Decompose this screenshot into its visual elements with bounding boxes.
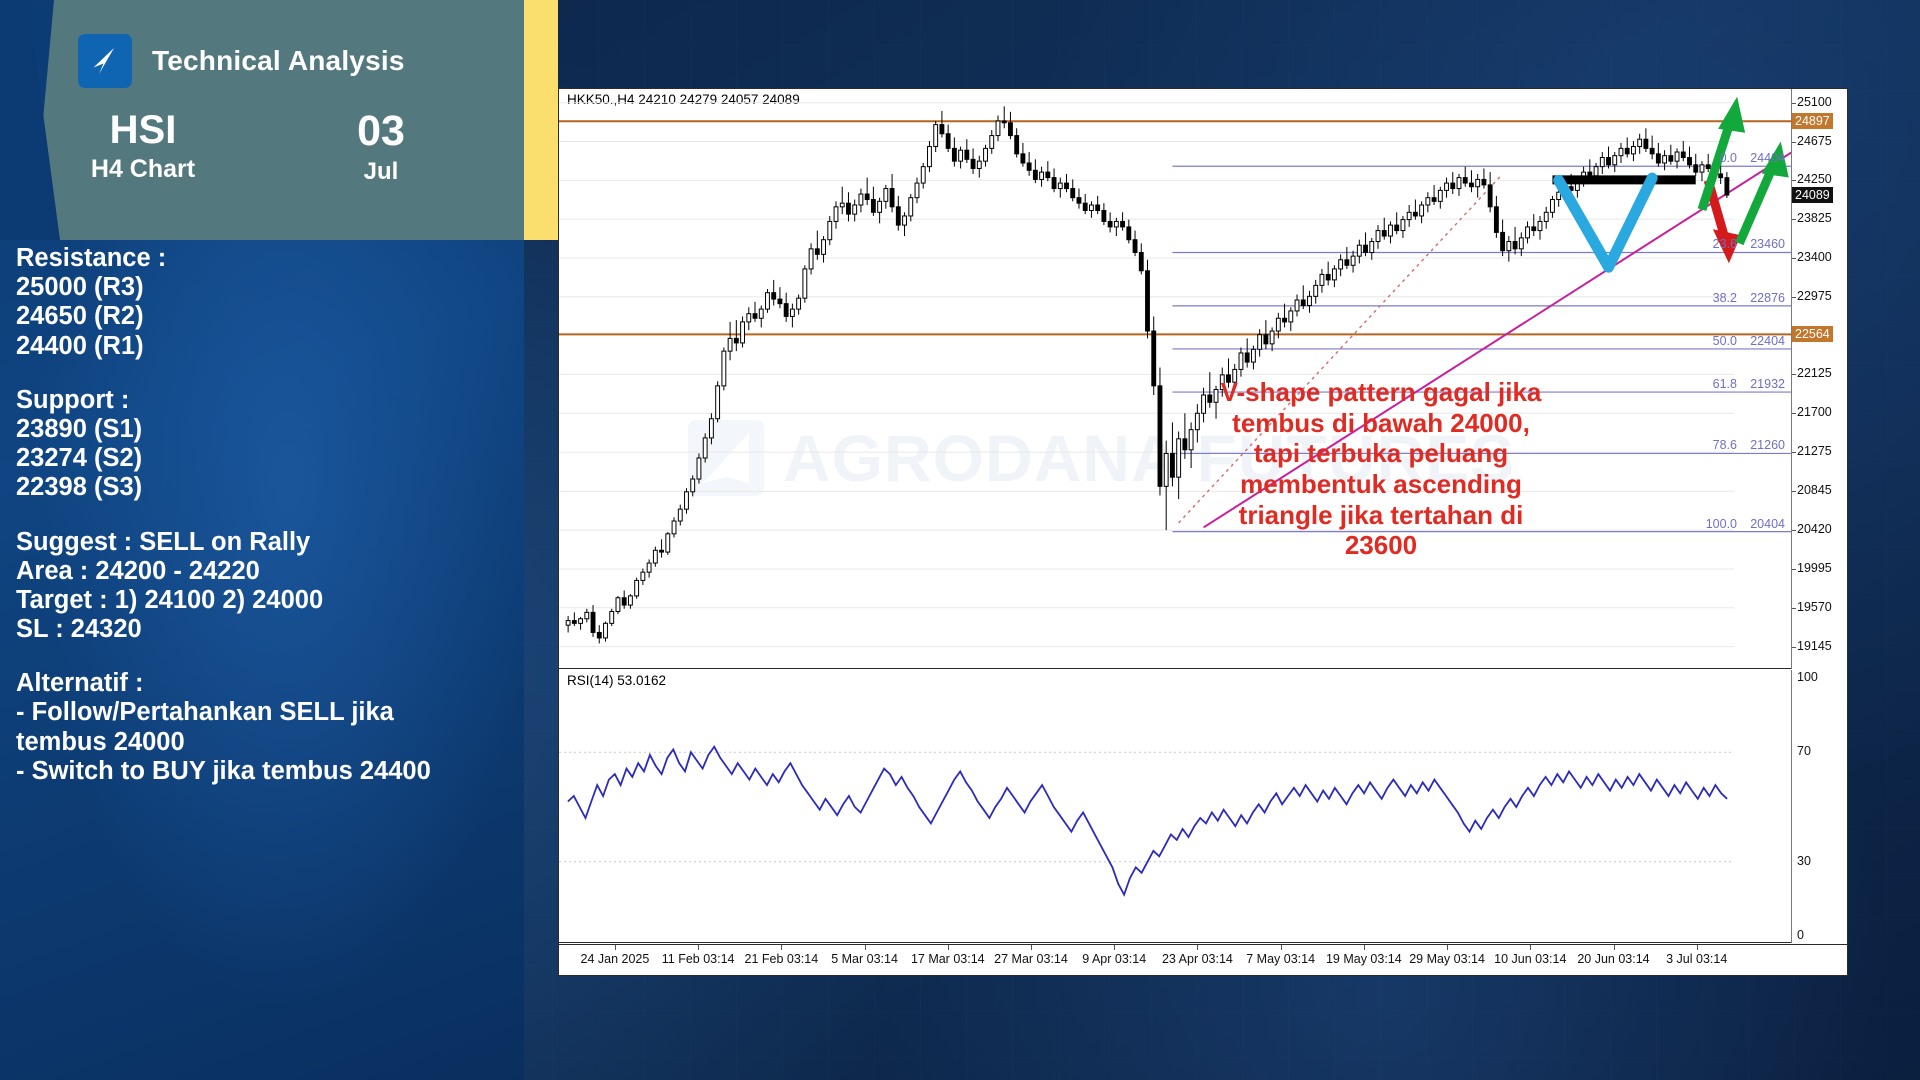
candle-body (591, 612, 595, 632)
candle-body (1027, 163, 1031, 170)
candle-body (1588, 172, 1592, 176)
candle-body (1438, 190, 1442, 201)
candle-body (1501, 232, 1505, 250)
annotation-line: V-shape pattern gagal jika (1171, 377, 1591, 408)
price-axis-tick (1792, 452, 1796, 453)
resistance-heading: Resistance : (16, 244, 486, 273)
sl-line: SL : 24320 (16, 615, 486, 644)
candle-body (728, 338, 732, 351)
candle-body (1077, 198, 1081, 203)
candle-body (703, 438, 707, 458)
candle-body (1656, 154, 1660, 163)
candle-body (1420, 205, 1424, 216)
candle-body (1357, 245, 1361, 256)
candle-body (597, 632, 601, 637)
alternative-item-2: - Switch to BUY jika tembus 24400 (16, 757, 486, 786)
candle-body (1663, 156, 1667, 163)
time-axis-tick (1031, 945, 1032, 950)
candle-body (940, 125, 944, 134)
price-axis-tick (1792, 142, 1796, 143)
price-axis-tick (1792, 258, 1796, 259)
rsi-pane: RSI(14) 53.0162 (559, 670, 1791, 943)
alternative-item-1: - Follow/Pertahankan SELL jika tembus 24… (16, 698, 486, 756)
candle-body (834, 207, 838, 222)
candle-body (622, 598, 626, 605)
candle-body (1270, 331, 1274, 344)
candle-body (946, 134, 950, 149)
candle-body (1239, 353, 1243, 369)
candle-body (990, 136, 994, 149)
time-axis-tick (1697, 945, 1698, 950)
candle-body (952, 148, 956, 161)
candle-body (1033, 170, 1037, 179)
candle-body (604, 623, 608, 638)
candle-body (660, 550, 664, 552)
candle-body (1301, 300, 1305, 305)
fibonacci-label: 78.621260 (1695, 438, 1785, 452)
candle-body (1065, 183, 1069, 188)
candle-body (1164, 453, 1168, 486)
price-axis-label: 21700 (1797, 405, 1832, 419)
candle-body (678, 509, 682, 521)
candle-body (1376, 231, 1380, 242)
fibonacci-level: 50.0 (1695, 334, 1737, 348)
candle-body (1102, 210, 1106, 221)
candle-body (1251, 349, 1255, 362)
brand-title: Technical Analysis (152, 45, 405, 77)
candle-body (909, 198, 913, 216)
chart-annotation: V-shape pattern gagal jikatembus di bawa… (1171, 377, 1591, 561)
candle-body (921, 167, 925, 183)
fibonacci-price: 22404 (1737, 334, 1785, 348)
bullish-arrow-1-head (1718, 97, 1745, 133)
annotation-line: 23600 (1171, 530, 1591, 561)
target-line: Target : 1) 24100 2) 24000 (16, 586, 486, 615)
candle-body (1625, 148, 1629, 153)
support-s2: 23274 (S2) (16, 444, 486, 473)
candle-body (865, 194, 869, 199)
price-axis-tick (1792, 103, 1796, 104)
fibonacci-price: 24404 (1737, 151, 1785, 165)
area-line: Area : 24200 - 24220 (16, 557, 486, 586)
price-axis-label: 20420 (1797, 522, 1832, 536)
arrow-logo-icon (78, 34, 132, 88)
candle-body (1426, 198, 1430, 205)
candle-body (1507, 242, 1511, 251)
price-axis-label: 22125 (1797, 366, 1832, 380)
candle-body (1308, 296, 1312, 305)
time-axis-tick (1614, 945, 1615, 950)
price-axis-label: 19995 (1797, 561, 1832, 575)
candle-body (1681, 152, 1685, 157)
candle-body (1600, 158, 1604, 167)
candle-body (1351, 256, 1355, 265)
time-axis-tick (1114, 945, 1115, 950)
rsi-axis-label: 100 (1797, 670, 1818, 684)
candle-body (1127, 227, 1131, 240)
candle-body (1619, 148, 1623, 155)
candle-body (1276, 318, 1280, 331)
candle-body (797, 298, 801, 309)
rsi-axis-label: 70 (1797, 744, 1811, 758)
candle-body (965, 150, 969, 159)
candle-body (1669, 156, 1673, 161)
candle-body (871, 200, 875, 213)
candle-body (853, 205, 857, 214)
candle-body (1445, 183, 1449, 190)
price-axis-tick (1792, 569, 1796, 570)
chart-window: HKK50.,H4 24210 24279 24057 24089 AGRODA… (558, 88, 1848, 976)
candle-body (1463, 178, 1467, 183)
time-axis-label: 29 May 03:14 (1409, 952, 1485, 966)
candle-body (1470, 183, 1474, 187)
candle-body (653, 550, 657, 563)
candle-body (847, 203, 851, 214)
time-axis-tick (1447, 945, 1448, 950)
accent-stripe (524, 0, 558, 240)
price-axis-label: 23825 (1797, 211, 1832, 225)
instrument-timeframe: H4 Chart (0, 155, 286, 184)
price-axis: 2510024897246752425024089238252340022975… (1791, 89, 1847, 669)
candle-body (1389, 225, 1393, 236)
candle-body (1401, 220, 1405, 231)
candle-body (828, 221, 832, 239)
time-axis-label: 27 Mar 03:14 (994, 952, 1068, 966)
price-axis-tick (1792, 413, 1796, 414)
fibonacci-price: 22876 (1737, 291, 1785, 305)
analysis-text: Resistance : 25000 (R3) 24650 (R2) 24400… (16, 244, 486, 786)
candle-body (1332, 269, 1336, 280)
candle-body (1532, 227, 1536, 231)
fibonacci-level: 78.6 (1695, 438, 1737, 452)
candle-body (803, 269, 807, 298)
support-s3: 22398 (S3) (16, 473, 486, 502)
candle-body (1146, 271, 1150, 331)
candle-body (1395, 225, 1399, 230)
candle-body (1009, 123, 1013, 136)
candle-body (996, 121, 1000, 136)
candle-body (1114, 221, 1118, 226)
price-axis-tick (1792, 297, 1796, 298)
annotation-line: tembus di bawah 24000, (1171, 408, 1591, 439)
candle-body (1326, 274, 1330, 279)
candle-body (1706, 165, 1710, 169)
candle-body (759, 309, 763, 318)
candle-body (772, 293, 776, 299)
instrument-row: HSI H4 Chart 03 Jul (0, 110, 492, 186)
candle-body (741, 322, 745, 343)
price-axis-label: 24250 (1797, 172, 1832, 186)
candle-body (815, 249, 819, 254)
candle-body (1494, 207, 1498, 233)
price-axis-tick (1792, 608, 1796, 609)
candle-body (1096, 205, 1100, 210)
resistance-r2: 24650 (R2) (16, 302, 486, 331)
candle-body (1320, 274, 1324, 285)
candle-body (1089, 205, 1093, 210)
time-axis-tick (698, 945, 699, 950)
fibonacci-label: 61.821932 (1695, 377, 1785, 391)
candle-body (1607, 158, 1611, 165)
price-axis-label: 19570 (1797, 600, 1832, 614)
candle-body (1121, 221, 1125, 226)
time-axis-tick (1197, 945, 1198, 950)
candle-body (666, 534, 670, 552)
candle-body (1551, 200, 1555, 213)
time-axis-label: 3 Jul 03:14 (1666, 952, 1727, 966)
price-axis-label: 19145 (1797, 639, 1832, 653)
candle-body (1526, 227, 1530, 238)
candle-body (984, 148, 988, 161)
candle-body (822, 240, 826, 255)
rsi-line (568, 747, 1727, 895)
candle-body (1264, 335, 1268, 344)
candle-body (1245, 353, 1249, 362)
v-pattern-left-leg (1559, 180, 1609, 267)
alternative-group: Alternatif : - Follow/Pertahankan SELL j… (16, 669, 486, 786)
time-axis-tick (615, 945, 616, 950)
brand-row: Technical Analysis (78, 34, 405, 88)
time-axis-label: 19 May 03:14 (1326, 952, 1402, 966)
candle-body (1258, 335, 1262, 350)
candle-body (1295, 300, 1299, 311)
time-axis-tick (1530, 945, 1531, 950)
candle-body (1133, 240, 1137, 253)
fibonacci-price: 21932 (1737, 377, 1785, 391)
time-axis-label: 9 Apr 03:14 (1082, 952, 1146, 966)
candle-body (1002, 121, 1006, 123)
annotation-line: triangle jika tertahan di (1171, 500, 1591, 531)
support-group: Support : 23890 (S1) 23274 (S2) 22398 (S… (16, 386, 486, 503)
price-axis-label: 21275 (1797, 444, 1832, 458)
candle-body (859, 194, 863, 205)
candle-body (840, 203, 844, 207)
candle-body (1058, 183, 1062, 188)
candle-body (884, 189, 888, 202)
resistance-r1: 24400 (R1) (16, 332, 486, 361)
price-pane: HKK50.,H4 24210 24279 24057 24089 AGRODA… (559, 89, 1791, 669)
candle-body (691, 479, 695, 492)
price-axis-tick (1792, 374, 1796, 375)
date-month: Jul (286, 158, 476, 186)
price-axis-label: 24675 (1797, 134, 1832, 148)
time-axis-label: 7 May 03:14 (1246, 952, 1315, 966)
candle-body (1046, 172, 1050, 177)
candle-body (934, 125, 938, 147)
candle-body (635, 580, 639, 596)
candle-body (1488, 185, 1492, 207)
fibonacci-price: 21260 (1737, 438, 1785, 452)
candle-body (647, 563, 651, 572)
fibonacci-price: 20404 (1737, 517, 1785, 531)
candle-body (1413, 212, 1417, 216)
time-axis: DISCLAIMER ON! 24 Jan 202511 Feb 03:1421… (559, 944, 1847, 975)
candle-body (896, 207, 900, 225)
candle-body (579, 619, 583, 624)
candle-body (641, 572, 645, 580)
candle-body (1725, 178, 1729, 195)
candle-body (1040, 172, 1044, 179)
candle-body (1538, 221, 1542, 230)
time-axis-tick (865, 945, 866, 950)
rsi-chart-svg (559, 670, 1791, 943)
price-axis-tick (1792, 647, 1796, 648)
candle-body (959, 150, 963, 161)
candle-body (1364, 245, 1368, 252)
instrument-block: HSI H4 Chart (0, 110, 286, 184)
v-pattern-right-leg (1609, 178, 1653, 267)
rsi-axis-label: 0 (1797, 928, 1804, 942)
time-axis-label: 20 Jun 03:14 (1577, 952, 1649, 966)
price-axis-tick (1792, 491, 1796, 492)
candle-body (778, 299, 782, 304)
candle-body (734, 338, 738, 343)
rsi-axis: 10070300 (1791, 670, 1847, 943)
candle-body (697, 458, 701, 479)
fibonacci-level: 0.0 (1695, 151, 1737, 165)
candle-body (1476, 179, 1480, 186)
candle-body (1071, 189, 1075, 198)
time-axis-tick (781, 945, 782, 950)
candle-body (1370, 242, 1374, 253)
candle-body (903, 216, 907, 225)
candle-body (1457, 178, 1461, 189)
candle-body (1719, 174, 1723, 178)
time-axis-tick (1364, 945, 1365, 950)
candle-body (1382, 231, 1386, 236)
date-day: 03 (286, 110, 476, 154)
candle-body (1158, 386, 1162, 486)
candle-body (1519, 238, 1523, 249)
price-axis-label: 25100 (1797, 95, 1832, 109)
instrument-symbol: HSI (0, 110, 286, 151)
time-axis-label: 5 Mar 03:14 (831, 952, 898, 966)
candle-body (1482, 179, 1486, 184)
time-axis-label: 24 Jan 2025 (581, 952, 650, 966)
candle-body (1314, 285, 1318, 296)
fibonacci-level: 100.0 (1695, 517, 1737, 531)
candle-body (709, 419, 713, 438)
resistance-group: Resistance : 25000 (R3) 24650 (R2) 24400… (16, 244, 486, 361)
candle-body (672, 521, 676, 534)
candle-body (1108, 221, 1112, 226)
candle-body (1283, 318, 1287, 322)
candle-body (1407, 212, 1411, 219)
candle-body (915, 183, 919, 198)
candle-body (790, 309, 794, 316)
annotation-line: tapi terbuka peluang (1171, 438, 1591, 469)
analysis-sidebar: Technical Analysis HSI H4 Chart 03 Jul R… (0, 0, 524, 1080)
fibonacci-label: 100.020404 (1695, 517, 1785, 531)
candle-body (585, 612, 589, 618)
fibonacci-label: 38.222876 (1695, 291, 1785, 305)
candle-body (716, 386, 720, 419)
price-axis-label: 22975 (1797, 289, 1832, 303)
price-axis-tick (1792, 180, 1796, 181)
time-axis-label: 11 Feb 03:14 (662, 952, 735, 966)
candle-body (1451, 183, 1455, 188)
candle-body (809, 249, 813, 269)
candle-body (722, 351, 726, 386)
candle-body (1052, 178, 1056, 189)
candle-body (1139, 252, 1143, 270)
time-axis-label: 10 Jun 03:14 (1494, 952, 1566, 966)
time-axis-label: 23 Apr 03:14 (1162, 952, 1233, 966)
candle-body (1152, 331, 1156, 386)
candle-body (971, 159, 975, 168)
fibonacci-level: 38.2 (1695, 291, 1737, 305)
candle-body (1289, 311, 1293, 322)
candle-body (1675, 152, 1679, 161)
price-axis-label: 20845 (1797, 483, 1832, 497)
fibonacci-price: 23460 (1737, 237, 1785, 251)
candle-body (610, 611, 614, 623)
candle-body (753, 314, 757, 319)
candle-body (784, 304, 788, 317)
time-axis-tick (1281, 945, 1282, 950)
fibonacci-level: 61.8 (1695, 377, 1737, 391)
price-axis-label: 22564 (1792, 326, 1833, 342)
price-axis-label: 24897 (1792, 113, 1833, 129)
candle-body (1513, 242, 1517, 249)
rsi-axis-label: 30 (1797, 854, 1811, 868)
fibonacci-label: 23.623460 (1695, 237, 1785, 251)
candle-body (572, 621, 576, 624)
candle-body (1339, 260, 1343, 269)
price-axis-tick (1792, 219, 1796, 220)
resistance-r3: 25000 (R3) (16, 273, 486, 302)
candle-body (1613, 156, 1617, 165)
candle-body (628, 596, 632, 605)
candle-body (1700, 165, 1704, 172)
time-axis-label: 17 Mar 03:14 (911, 952, 985, 966)
candle-body (1632, 147, 1636, 154)
price-axis-tick (1792, 530, 1796, 531)
candle-body (878, 201, 882, 212)
time-axis-label: 21 Feb 03:14 (745, 952, 819, 966)
candle-body (1688, 158, 1692, 165)
candle-body (1083, 203, 1087, 210)
suggest-line: Suggest : SELL on Rally (16, 528, 486, 557)
fibonacci-level: 23.6 (1695, 237, 1737, 251)
candle-body (1544, 212, 1548, 221)
candle-body (747, 314, 751, 322)
date-block: 03 Jul (286, 110, 476, 186)
candle-body (977, 161, 981, 168)
candle-body (566, 621, 570, 626)
candle-body (928, 147, 932, 167)
candle-body (766, 293, 770, 309)
annotation-line: membentuk ascending (1171, 469, 1591, 500)
time-axis-tick (948, 945, 949, 950)
suggestion-group: Suggest : SELL on Rally Area : 24200 - 2… (16, 528, 486, 645)
support-s1: 23890 (S1) (16, 415, 486, 444)
candle-body (685, 492, 689, 509)
candle-body (1650, 148, 1654, 153)
price-axis-label: 24089 (1792, 187, 1833, 203)
candle-body (1432, 198, 1436, 202)
alternative-heading: Alternatif : (16, 669, 486, 698)
candle-body (890, 189, 894, 207)
candle-body (1644, 139, 1648, 148)
candle-body (1345, 260, 1349, 265)
candle-body (1021, 154, 1025, 163)
candle-body (1594, 167, 1598, 176)
price-axis-label: 23400 (1797, 250, 1832, 264)
support-heading: Support : (16, 386, 486, 415)
candle-body (1694, 165, 1698, 172)
fibonacci-label: 0.024404 (1695, 151, 1785, 165)
